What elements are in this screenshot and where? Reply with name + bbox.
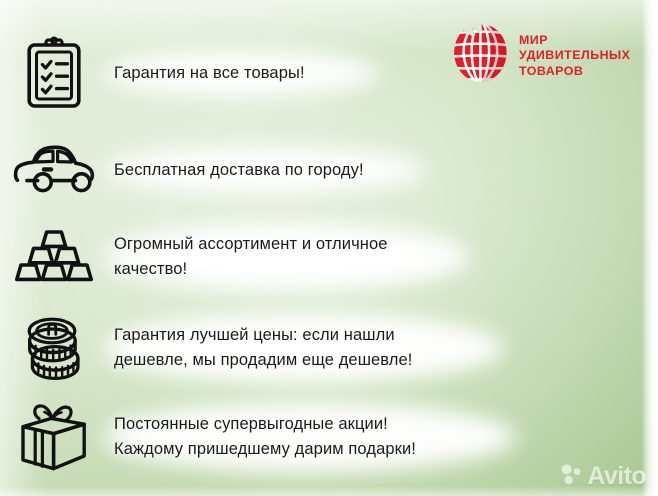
brand-logo: МИР УДИВИТЕЛЬНЫХ ТОВАРОВ [452,20,652,92]
feature-row: Гарантия лучшей цены: если нашли дешевле… [0,302,560,394]
avito-dots-icon [561,463,583,490]
avito-wordmark: Avito [587,464,646,489]
gold-bars-icon [0,226,108,288]
feature-row: Бесплатная доставка по городу! [0,130,500,210]
avito-watermark: Avito [561,463,646,490]
feature-text: Бесплатная доставка по городу! [114,158,500,183]
coins-stack-icon [0,314,108,382]
feature-row: Огромный ассортимент и отличное качество… [0,214,540,300]
feature-text: Огромный ассортимент и отличное качество… [114,232,540,282]
clipboard-checklist-icon [0,36,108,110]
brand-name: МИР УДИВИТЕЛЬНЫХ ТОВАРОВ [519,33,630,79]
promo-banner: Гарантия на все товары! Бесплатна [0,0,658,496]
feature-row: Гарантия на все товары! [0,32,470,114]
feature-text: Гарантия на все товары! [114,61,470,86]
feature-text-container: Огромный ассортимент и отличное качество… [108,232,540,282]
feature-text-container: Гарантия лучшей цены: если нашли дешевле… [108,323,560,373]
feature-text-container: Бесплатная доставка по городу! [108,158,500,183]
feature-text: Постоянные супервыгодные акции! Каждому … [114,412,570,462]
car-icon [0,144,108,196]
feature-text: Гарантия лучшей цены: если нашли дешевле… [114,323,560,373]
gift-box-icon [0,402,108,472]
feature-row: Постоянные супервыгодные акции! Каждому … [0,392,570,482]
feature-text-container: Гарантия на все товары! [108,61,470,86]
feature-text-container: Постоянные супервыгодные акции! Каждому … [108,412,570,462]
